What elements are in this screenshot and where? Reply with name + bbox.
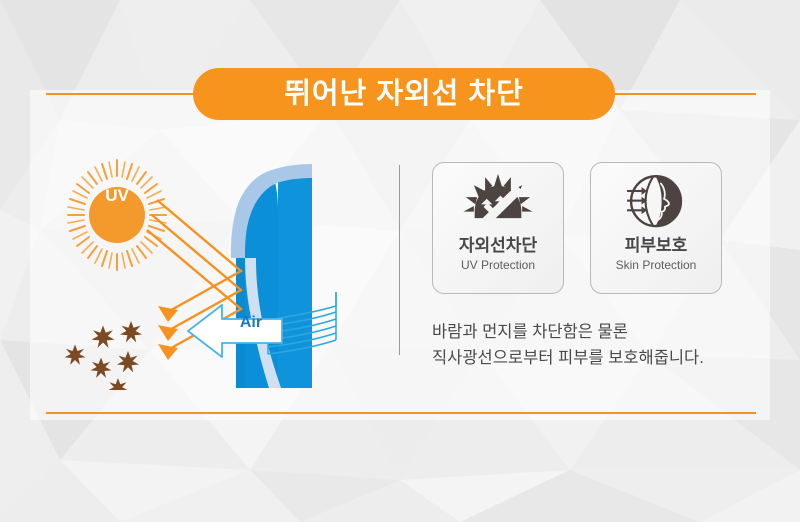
fabric-curtain-icon	[231, 164, 312, 388]
infographic-root: 뛰어난 자외선 차단	[0, 0, 800, 522]
feature-label-ko: 자외선차단	[459, 237, 537, 256]
uv-sun-icon	[68, 160, 166, 270]
uv-blocking-illustration	[40, 140, 390, 390]
description-line-2: 직사광선으로부터 피부를 보호해줍니다.	[432, 346, 732, 372]
feature-box-skin-protection[interactable]: 피부보호 Skin Protection	[590, 162, 722, 294]
feature-label-en: UV Protection	[461, 259, 535, 272]
description-line-1: 바람과 먼지를 차단함은 물론	[432, 320, 732, 346]
feature-box-list: 자외선차단 UV Protection	[432, 162, 732, 294]
skin-protection-face-icon	[619, 172, 693, 232]
feature-box-uv-protection[interactable]: 자외선차단 UV Protection	[432, 162, 564, 294]
description-text: 바람과 먼지를 차단함은 물론 직사광선으로부터 피부를 보호해줍니다.	[432, 320, 732, 371]
feature-label-en: Skin Protection	[616, 259, 697, 272]
features-column: 자외선차단 UV Protection	[432, 162, 732, 377]
feature-label-ko: 피부보호	[625, 237, 688, 256]
dust-particle-icon	[65, 321, 142, 390]
uv-ray-arrowhead-icon	[158, 306, 178, 360]
section-divider	[399, 165, 400, 355]
title-banner: 뛰어난 자외선 차단	[193, 68, 615, 120]
divider-bottom	[46, 412, 756, 414]
page-title: 뛰어난 자외선 차단	[284, 80, 524, 109]
uv-protection-sun-icon	[461, 172, 535, 232]
